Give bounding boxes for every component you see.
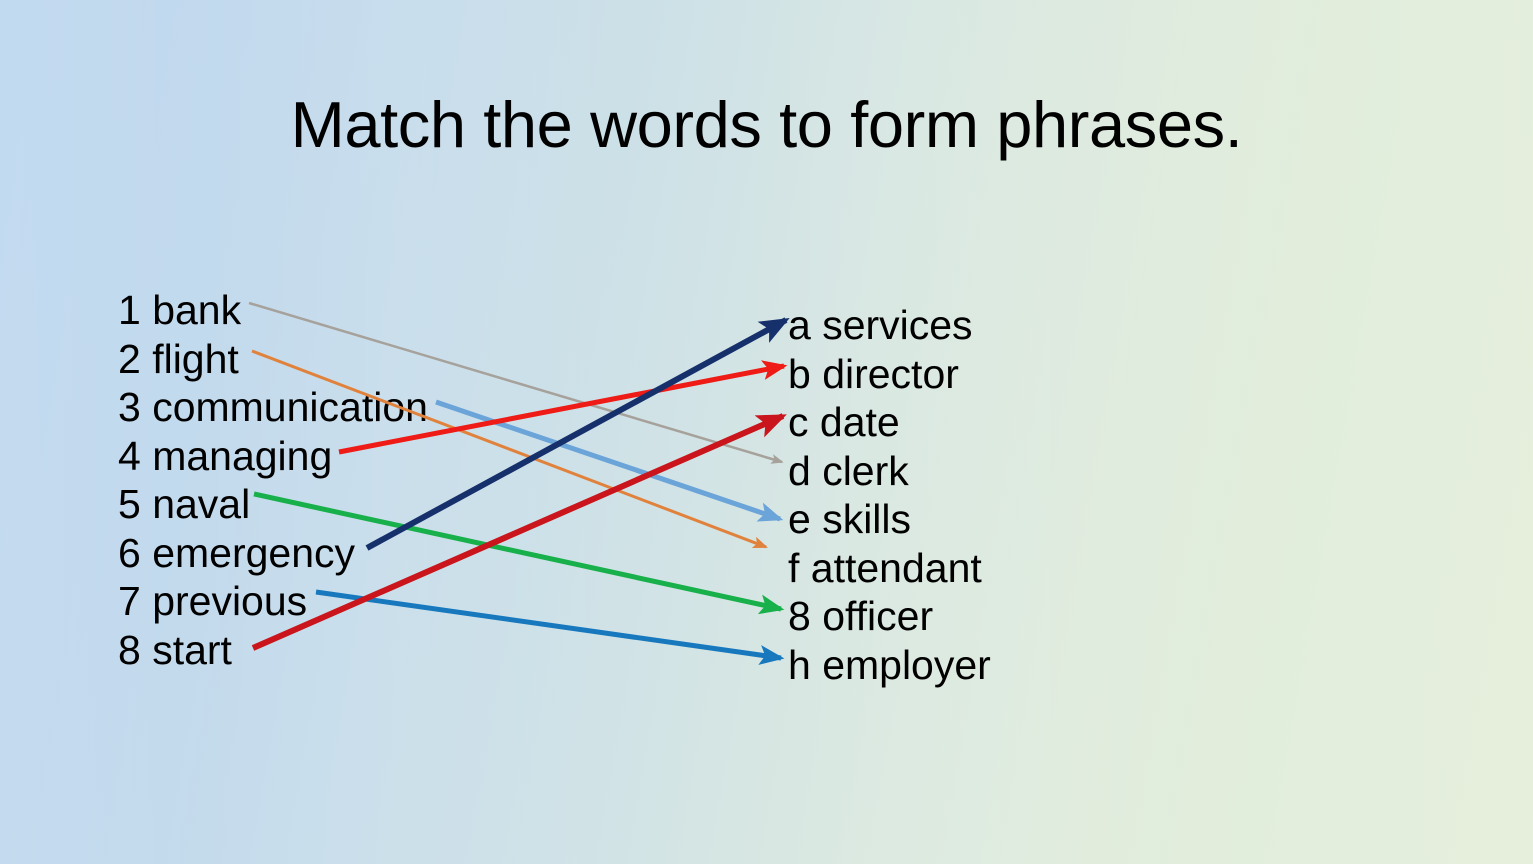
slide-canvas: Match the words to form phrases. 1 bank … bbox=[0, 0, 1533, 864]
left-list-item-7[interactable]: 7 previous bbox=[118, 577, 428, 626]
left-item-label: 2 flight bbox=[118, 336, 239, 382]
left-word-list: 1 bank 2 flight 3 communication 4 managi… bbox=[118, 286, 428, 674]
right-list-item-e[interactable]: e skills bbox=[788, 495, 991, 544]
right-item-label: d clerk bbox=[788, 448, 909, 494]
right-item-label: a services bbox=[788, 302, 973, 348]
left-list-item-3[interactable]: 3 communication bbox=[118, 383, 428, 432]
left-list-item-2[interactable]: 2 flight bbox=[118, 335, 428, 384]
right-item-label: e skills bbox=[788, 496, 911, 542]
right-item-label: h employer bbox=[788, 642, 991, 688]
right-item-label: c date bbox=[788, 399, 900, 445]
page-title: Match the words to form phrases. bbox=[0, 86, 1533, 164]
left-list-item-1[interactable]: 1 bank bbox=[118, 286, 428, 335]
left-list-item-6[interactable]: 6 emergency bbox=[118, 529, 428, 578]
connector-emergency-to-services bbox=[367, 320, 786, 548]
right-item-label: 8 officer bbox=[788, 593, 933, 639]
right-list-item-g[interactable]: 8 officer bbox=[788, 592, 991, 641]
right-list-item-a[interactable]: a services bbox=[788, 301, 991, 350]
left-item-label: 4 managing bbox=[118, 433, 332, 479]
right-item-label: b director bbox=[788, 351, 959, 397]
right-list-item-h[interactable]: h employer bbox=[788, 641, 991, 690]
right-list-item-b[interactable]: b director bbox=[788, 350, 991, 399]
left-list-item-8[interactable]: 8 start bbox=[118, 626, 428, 675]
left-item-label: 5 naval bbox=[118, 481, 250, 527]
right-list-item-f[interactable]: f attendant bbox=[788, 544, 991, 593]
right-list-item-c[interactable]: c date bbox=[788, 398, 991, 447]
left-list-item-4[interactable]: 4 managing bbox=[118, 432, 428, 481]
left-item-label: 8 start bbox=[118, 627, 232, 673]
left-item-label: 6 emergency bbox=[118, 530, 355, 576]
right-item-label: f attendant bbox=[788, 545, 982, 591]
right-word-list: a services b director c date d clerk e s… bbox=[788, 301, 991, 689]
right-list-item-d[interactable]: d clerk bbox=[788, 447, 991, 496]
left-item-label: 7 previous bbox=[118, 578, 307, 624]
connector-communication-to-skills bbox=[436, 402, 780, 519]
left-item-label: 1 bank bbox=[118, 287, 241, 333]
left-item-label: 3 communication bbox=[118, 384, 428, 430]
left-list-item-5[interactable]: 5 naval bbox=[118, 480, 428, 529]
